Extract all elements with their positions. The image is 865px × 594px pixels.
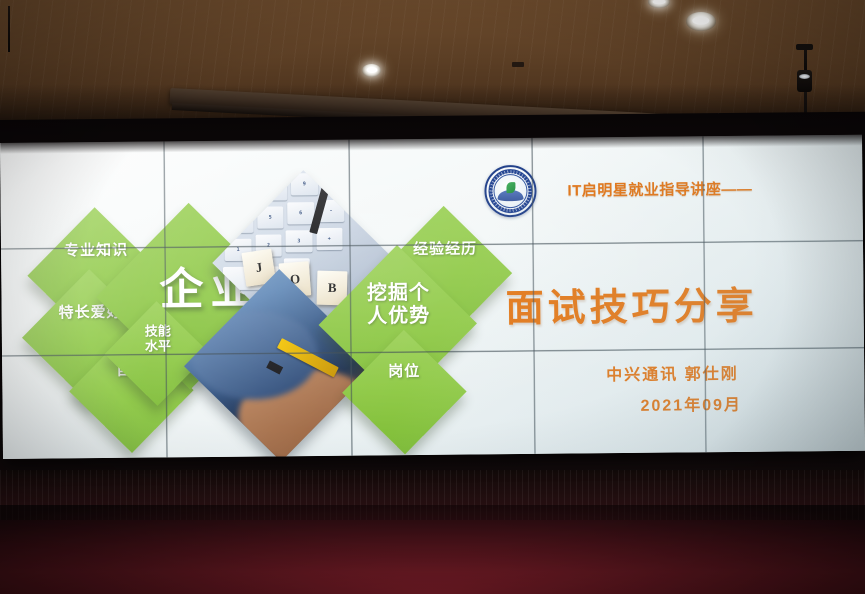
speaker-light-glint	[799, 74, 810, 79]
school-emblem-logo	[484, 165, 536, 217]
diamond-experience-label: 经验经历	[390, 240, 500, 258]
presentation-slide: 专业知识 特长爱好 自信 企业 技能 水平 7 8 9 * 4 5 6	[0, 135, 865, 459]
diamond-personal-strength-label: 挖掘个 人优势	[333, 282, 463, 330]
diamond-position-label: 岗位	[356, 363, 452, 381]
floor-vignette	[0, 505, 865, 594]
slide-main-title: 面试技巧分享	[505, 275, 758, 332]
diamond-skill-level-label: 技能 水平	[115, 323, 201, 354]
ceiling-vent-icon	[512, 62, 524, 67]
slide-presenter: 中兴通讯 郭仕刚	[606, 360, 739, 385]
slide-date: 2021年09月	[640, 391, 742, 416]
lecture-hall-photo: 专业知识 特长爱好 自信 企业 技能 水平 7 8 9 * 4 5 6	[0, 0, 865, 594]
lcd-video-wall[interactable]: 专业知识 特长爱好 自信 企业 技能 水平 7 8 9 * 4 5 6	[0, 135, 865, 459]
ceiling-cable	[8, 6, 10, 52]
downlight-left-icon	[362, 64, 381, 77]
downlight-right-icon	[686, 12, 716, 31]
speaker-rod	[804, 50, 807, 72]
slide-header-text: IT启明星就业指导讲座——	[567, 178, 752, 201]
